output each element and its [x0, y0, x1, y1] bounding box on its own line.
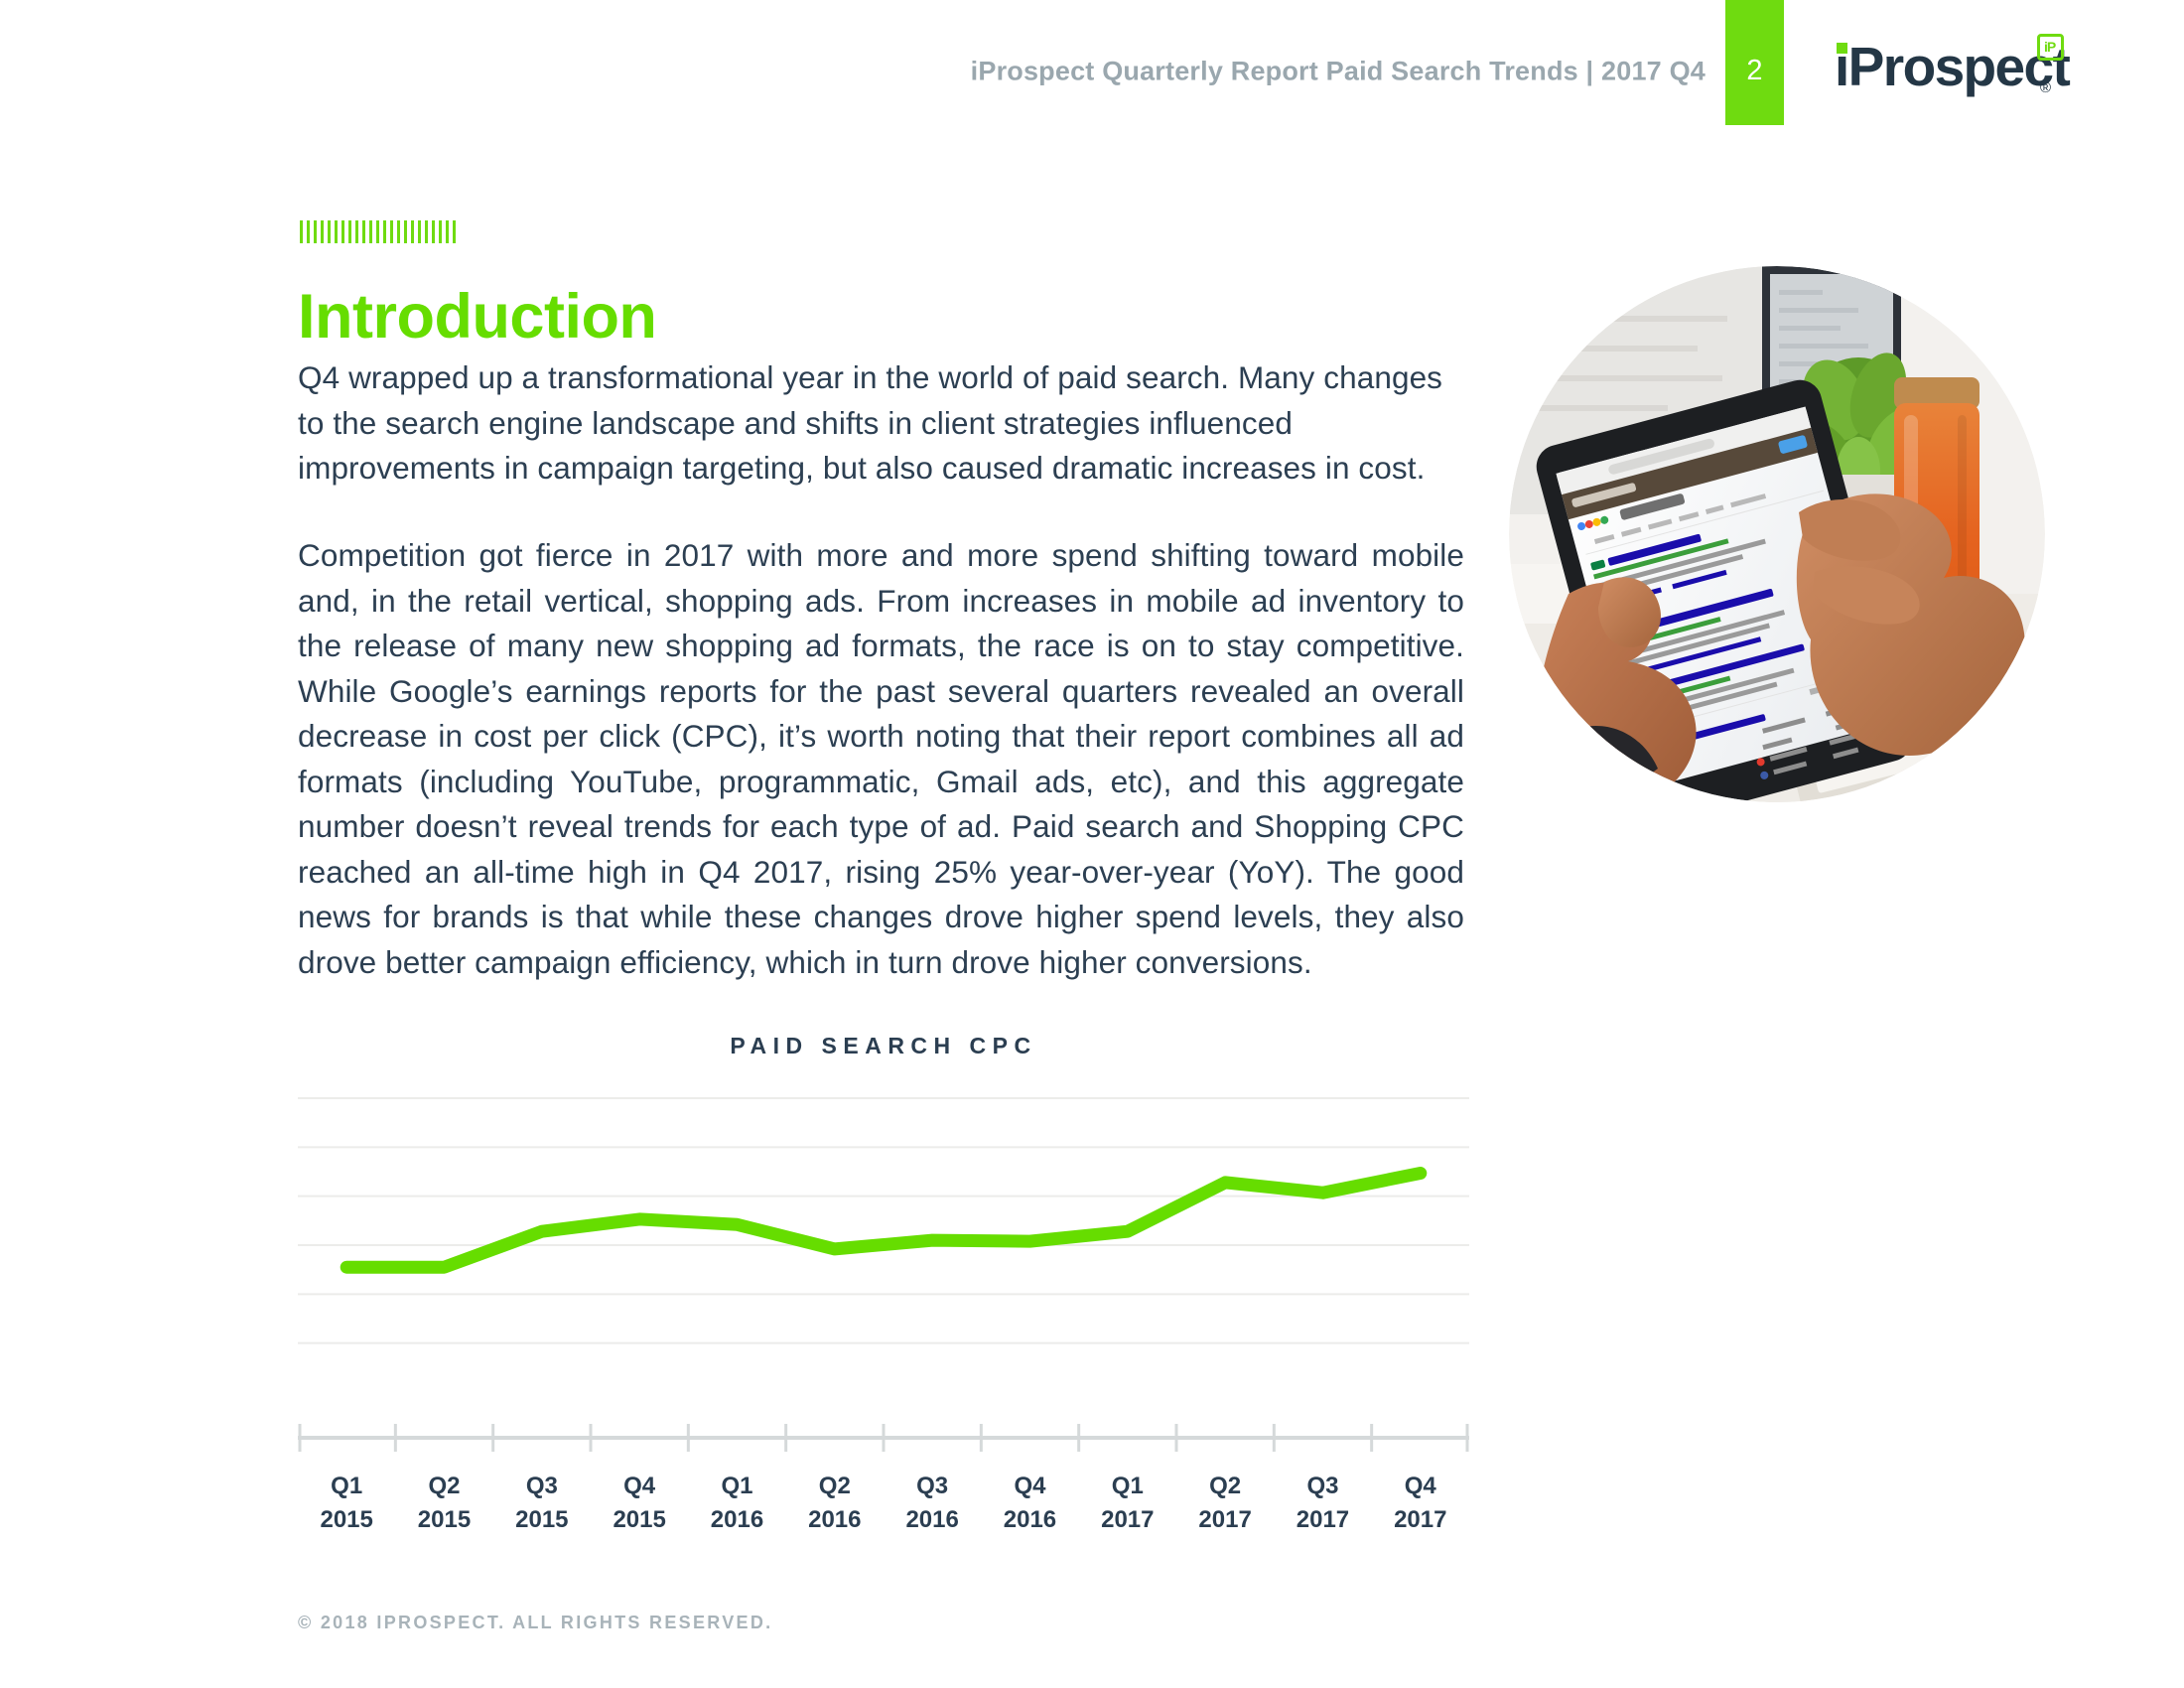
- chart-x-label: Q42017: [1372, 1470, 1469, 1537]
- chart-x-label-year: 2016: [688, 1503, 785, 1537]
- chart-plot-area: [298, 1094, 1469, 1452]
- chart-x-label-quarter: Q4: [1372, 1470, 1469, 1503]
- chart-x-label: Q32017: [1274, 1470, 1371, 1537]
- chart-x-label: Q12016: [688, 1470, 785, 1537]
- chart-x-label: Q32015: [493, 1470, 591, 1537]
- chart-x-label-year: 2017: [1274, 1503, 1371, 1537]
- page-title: Introduction: [298, 286, 656, 349]
- chart-x-label-quarter: Q3: [493, 1470, 591, 1503]
- page-content: Introduction Q4 wrapped up a transformat…: [0, 0, 2184, 1688]
- chart-x-label-quarter: Q3: [1274, 1470, 1371, 1503]
- chart-x-label: Q22017: [1176, 1470, 1274, 1537]
- chart-x-label: Q12015: [298, 1470, 395, 1537]
- chart-x-label-year: 2017: [1079, 1503, 1176, 1537]
- chart-x-label: Q32016: [884, 1470, 981, 1537]
- chart-x-tick-labels: Q12015Q22015Q32015Q42015Q12016Q22016Q320…: [298, 1470, 1469, 1537]
- chart-gridlines: [298, 1098, 1469, 1343]
- chart-title: PAID SEARCH CPC: [298, 1033, 1469, 1059]
- chart-x-label-year: 2017: [1176, 1503, 1274, 1537]
- chart-x-label: Q42016: [981, 1470, 1078, 1537]
- chart-x-label-year: 2016: [884, 1503, 981, 1537]
- chart-x-label: Q22015: [395, 1470, 492, 1537]
- paid-search-cpc-chart: PAID SEARCH CPC Q12015Q22015Q32015Q42015…: [298, 1033, 1469, 1549]
- chart-x-label-year: 2015: [493, 1503, 591, 1537]
- chart-x-label-quarter: Q2: [786, 1470, 884, 1503]
- chart-x-label-quarter: Q2: [1176, 1470, 1274, 1503]
- chart-x-label: Q12017: [1079, 1470, 1176, 1537]
- chart-x-label-year: 2015: [395, 1503, 492, 1537]
- chart-x-label-quarter: Q4: [981, 1470, 1078, 1503]
- chart-x-label: Q42015: [591, 1470, 688, 1537]
- chart-x-label-quarter: Q2: [395, 1470, 492, 1503]
- decorative-hatch-rule: [300, 220, 467, 243]
- chart-x-label-year: 2016: [786, 1503, 884, 1537]
- chart-x-label-quarter: Q1: [298, 1470, 395, 1503]
- chart-x-label-quarter: Q3: [884, 1470, 981, 1503]
- chart-x-axis: [298, 1424, 1469, 1452]
- chart-x-label-year: 2017: [1372, 1503, 1469, 1537]
- chart-x-label-quarter: Q1: [688, 1470, 785, 1503]
- chart-svg: [298, 1094, 1469, 1452]
- intro-paragraph-2: Competition got fierce in 2017 with more…: [298, 533, 1464, 985]
- chart-x-label-quarter: Q1: [1079, 1470, 1176, 1503]
- chart-line-series: [346, 1174, 1421, 1268]
- chart-x-label-year: 2016: [981, 1503, 1078, 1537]
- footer-copyright: © 2018 IPROSPECT. ALL RIGHTS RESERVED.: [298, 1613, 772, 1633]
- chart-x-label-year: 2015: [298, 1503, 395, 1537]
- hero-photo-tablet-search: [1509, 266, 2045, 802]
- chart-x-label-quarter: Q4: [591, 1470, 688, 1503]
- chart-x-label-year: 2015: [591, 1503, 688, 1537]
- chart-x-label: Q22016: [786, 1470, 884, 1537]
- intro-paragraph-1: Q4 wrapped up a transformational year in…: [298, 355, 1464, 492]
